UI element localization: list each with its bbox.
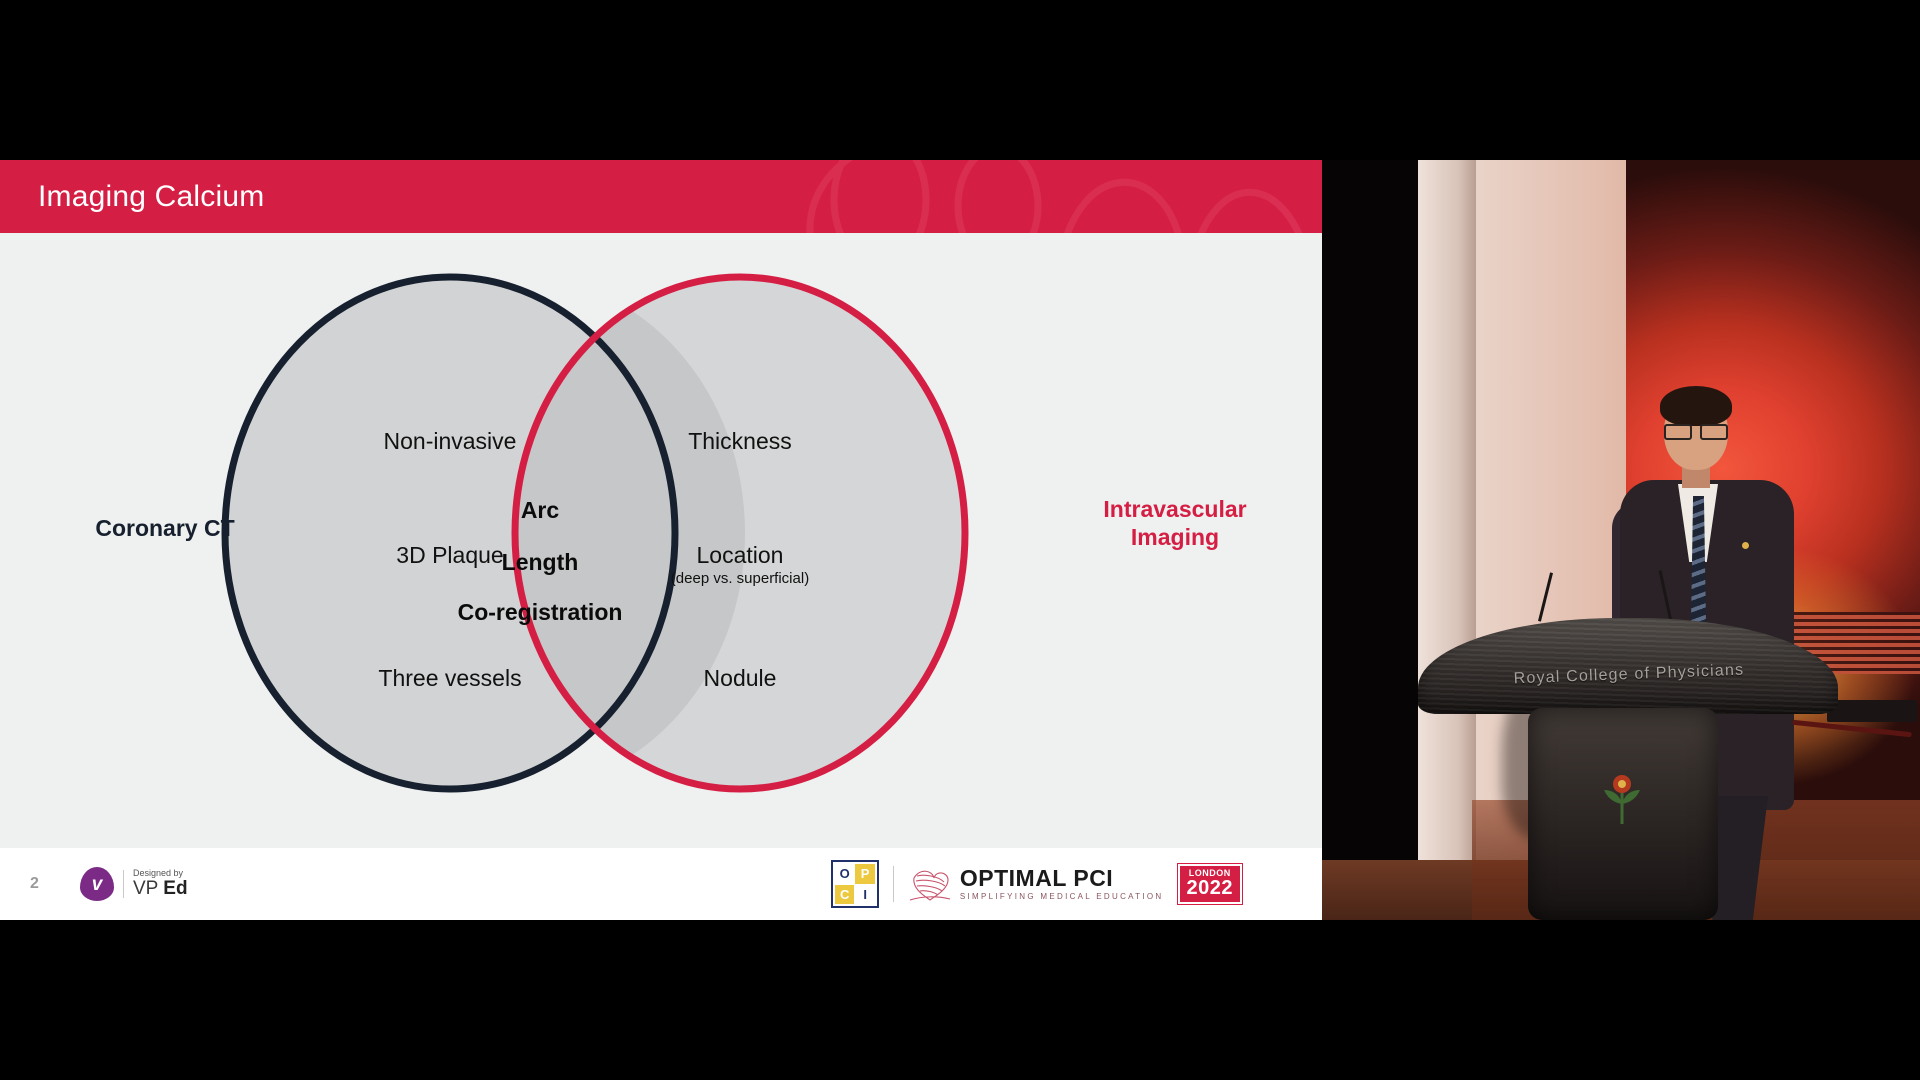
- vp-monogram: v: [92, 875, 103, 894]
- av-equipment-box: [1827, 700, 1917, 722]
- optimal-pci-logo: OPTIMAL PCI SIMPLIFYING MEDICAL EDUCATIO…: [908, 866, 1164, 902]
- venn-left-item-0: Non-invasive: [330, 428, 570, 455]
- speaker-hair: [1660, 386, 1732, 426]
- speaker-glasses-icon: [1664, 424, 1728, 436]
- vped-name: VP Ed: [133, 879, 188, 899]
- sponsor-logos: O P C I: [831, 860, 1242, 908]
- vped-wordmark: Designed by VP Ed: [133, 869, 188, 898]
- optimal-pci-tagline: SIMPLIFYING MEDICAL EDUCATION: [960, 893, 1164, 901]
- opci-cell-0: O: [835, 864, 855, 884]
- speaker-lapel-pin: [1742, 542, 1749, 549]
- slide-header-bar: Imaging Calcium: [0, 160, 1322, 233]
- logo-divider-2: [893, 866, 894, 902]
- opci-logo-icon: O P C I: [831, 860, 879, 908]
- opci-cell-3: I: [855, 885, 875, 905]
- presentation-slide: Imaging Calcium Coronary CT: [0, 160, 1322, 920]
- screen: Imaging Calcium Coronary CT: [0, 0, 1920, 1080]
- lectern: Royal College of Physicians: [1418, 618, 1838, 920]
- optimal-pci-title: OPTIMAL PCI: [960, 867, 1164, 890]
- venn-intersection-item-1: Length: [390, 549, 690, 576]
- stage-dark-edge: [1322, 160, 1418, 920]
- venn-left-item-2: Three vessels: [330, 665, 570, 692]
- heart-scribble-icon: [908, 866, 952, 902]
- slide-body: Coronary CT Intravascular Imaging Non-in…: [0, 233, 1322, 848]
- venn-intersection-item-2: Co-registration: [380, 599, 700, 626]
- venn-label-right-line2: Imaging: [1060, 523, 1290, 551]
- venn-label-left: Coronary CT: [40, 514, 290, 542]
- vped-logo: v Designed by VP Ed: [80, 867, 188, 901]
- venn-label-right: Intravascular Imaging: [1060, 495, 1290, 551]
- decorative-swirl-graphic: [760, 160, 1320, 233]
- letterboxed-content-band: Imaging Calcium Coronary CT: [0, 160, 1920, 920]
- opci-cell-2: C: [835, 885, 855, 905]
- logo-divider: [123, 870, 124, 898]
- venn-label-right-line1: Intravascular: [1060, 495, 1290, 523]
- london-2022-badge: LONDON 2022: [1178, 864, 1243, 904]
- rcp-emblem-icon: [1596, 768, 1648, 828]
- opci-cell-1: P: [855, 864, 875, 884]
- vp-heart-icon: v: [80, 867, 114, 901]
- venn-right-item-2: Nodule: [620, 665, 860, 692]
- venn-intersection-item-0: Arc: [390, 497, 690, 524]
- page-number: 2: [30, 875, 39, 893]
- slide-footer: 2 v Designed by VP Ed: [0, 848, 1322, 920]
- speaker-video-feed[interactable]: Royal College of Physicians: [1322, 160, 1920, 920]
- vped-vp: VP: [133, 878, 158, 899]
- venn-right-item-0: Thickness: [620, 428, 860, 455]
- london-badge-year: 2022: [1187, 878, 1234, 898]
- slide-title: Imaging Calcium: [38, 180, 264, 214]
- vped-ed: Ed: [163, 878, 187, 899]
- optimal-pci-wordmark: OPTIMAL PCI SIMPLIFYING MEDICAL EDUCATIO…: [960, 867, 1164, 901]
